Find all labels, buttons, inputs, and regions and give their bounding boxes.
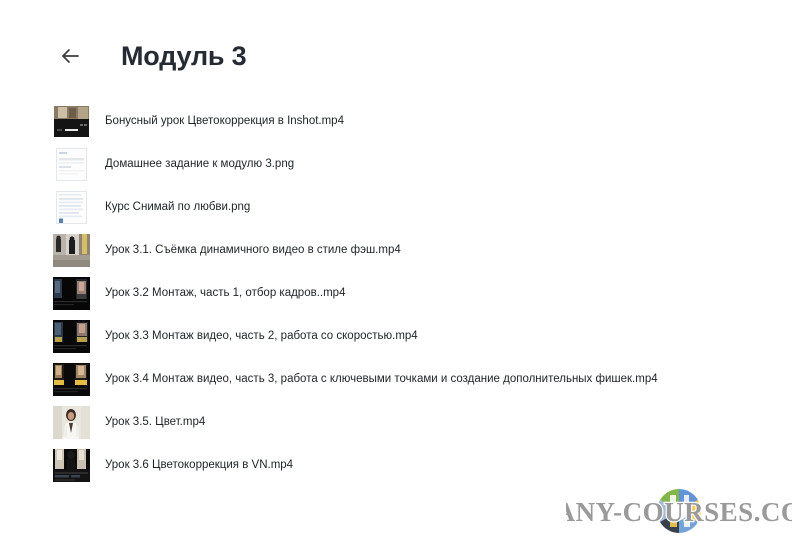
thumbnail-video-editor-dark <box>53 277 90 310</box>
list-item[interactable]: Урок 3.1. Съёмка динамичного видео в сти… <box>0 229 800 272</box>
file-name: Курс Снимай по любви.png <box>105 201 250 215</box>
file-name: Урок 3.3 Монтаж видео, часть 2, работа с… <box>105 330 418 344</box>
file-list: Бонусный урок Цветокоррекция в Inshot.mp… <box>0 100 800 487</box>
watermark: MANY-COURSES.COM <box>566 481 792 543</box>
thumbnail-video-dark-room <box>53 105 90 138</box>
file-name: Урок 3.1. Съёмка динамичного видео в сти… <box>105 244 401 258</box>
thumbnail-video-woman-white <box>53 406 90 439</box>
file-name: Урок 3.4 Монтаж видео, часть 3, работа с… <box>105 373 658 387</box>
list-item[interactable]: Урок 3.4 Монтаж видео, часть 3, работа с… <box>0 358 800 401</box>
list-item[interactable]: Бонусный урок Цветокоррекция в Inshot.mp… <box>0 100 800 143</box>
thumbnail-document-list <box>53 191 90 224</box>
list-item[interactable]: Курс Снимай по любви.png <box>0 186 800 229</box>
thumbnail-video-editor-yellow <box>53 363 90 396</box>
file-name: Бонусный урок Цветокоррекция в Inshot.mp… <box>105 115 344 129</box>
list-item[interactable]: Урок 3.2 Монтаж, часть 1, отбор кадров..… <box>0 272 800 315</box>
file-name: Урок 3.2 Монтаж, часть 1, отбор кадров..… <box>105 287 345 301</box>
thumbnail-video-street <box>53 234 90 267</box>
arrow-left-icon <box>58 44 82 68</box>
file-name: Урок 3.5. Цвет.mp4 <box>105 416 205 430</box>
thumbnail-document-page <box>53 148 90 181</box>
list-item[interactable]: Урок 3.5. Цвет.mp4 <box>0 401 800 444</box>
file-name: Урок 3.6 Цветокоррекция в VN.mp4 <box>105 459 293 473</box>
thumbnail-video-editor-dark2 <box>53 320 90 353</box>
page-title: Модуль 3 <box>121 43 246 70</box>
page-header: Модуль 3 <box>0 0 800 78</box>
list-item[interactable]: Домашнее задание к модулю 3.png <box>0 143 800 186</box>
watermark-text: MANY-COURSES.COM <box>566 497 792 527</box>
file-name: Домашнее задание к модулю 3.png <box>105 158 294 172</box>
thumbnail-video-timeline <box>53 449 90 482</box>
back-button[interactable] <box>57 43 83 69</box>
list-item[interactable]: Урок 3.3 Монтаж видео, часть 2, работа с… <box>0 315 800 358</box>
